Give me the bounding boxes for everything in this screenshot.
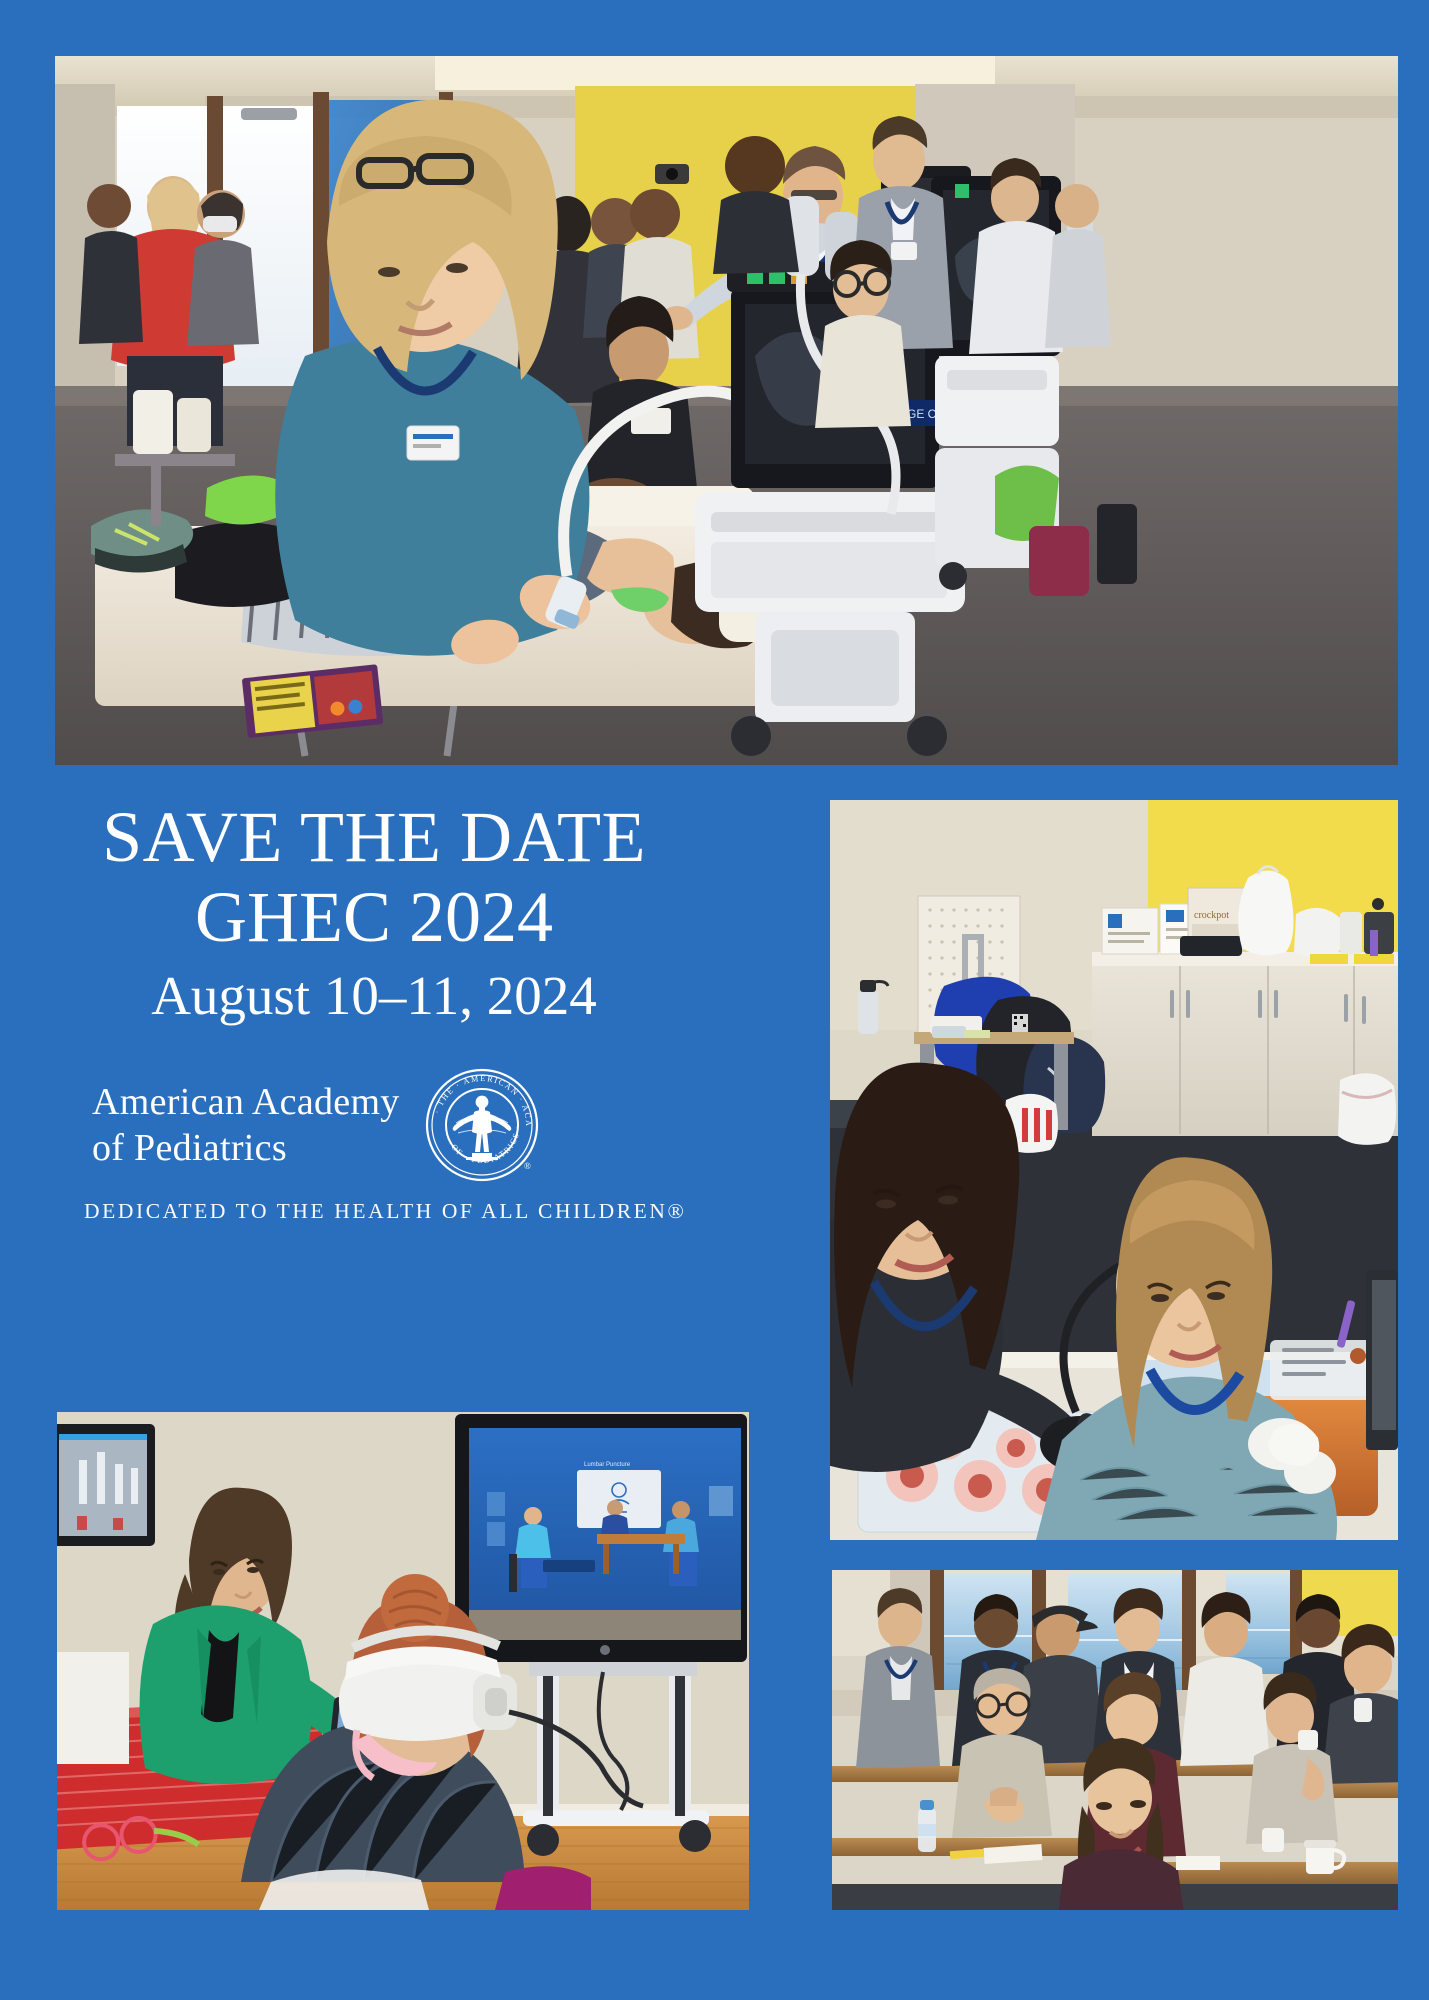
photo-procedural-skills-lab: crockpot (830, 800, 1398, 1540)
poster-text-block: SAVE THE DATE GHEC 2024 August 10–11, 20… (40, 800, 700, 1370)
page-title: SAVE THE DATE (40, 800, 700, 875)
aap-tagline: DEDICATED TO THE HEALTH OF ALL CHILDREN® (40, 1199, 700, 1224)
aap-wordmark: American Academy of Pediatrics (92, 1079, 400, 1172)
aap-wordmark-line2: of Pediatrics (92, 1125, 400, 1171)
event-name: GHEC 2024 (40, 875, 700, 960)
photo-ultrasound-workshop: GE CARES (55, 56, 1398, 765)
aap-logo: American Academy of Pediatrics · THE · A… (40, 1065, 700, 1185)
photo-classroom-session (832, 1570, 1398, 1910)
aap-wordmark-line1: American Academy (92, 1079, 400, 1125)
seal-registered-mark: ® (524, 1161, 531, 1171)
event-dates: August 10–11, 2024 (40, 960, 700, 1032)
svg-text:crockpot: crockpot (1194, 910, 1229, 921)
svg-text:Lumbar Puncture: Lumbar Puncture (584, 1462, 631, 1468)
aap-seal-icon: · THE · AMERICAN · ACADEMY · · OF · PEDI… (422, 1065, 542, 1185)
photo-vr-simulation: Lumbar Puncture (57, 1412, 749, 1910)
save-the-date-poster: GE CARES (0, 0, 1429, 2000)
